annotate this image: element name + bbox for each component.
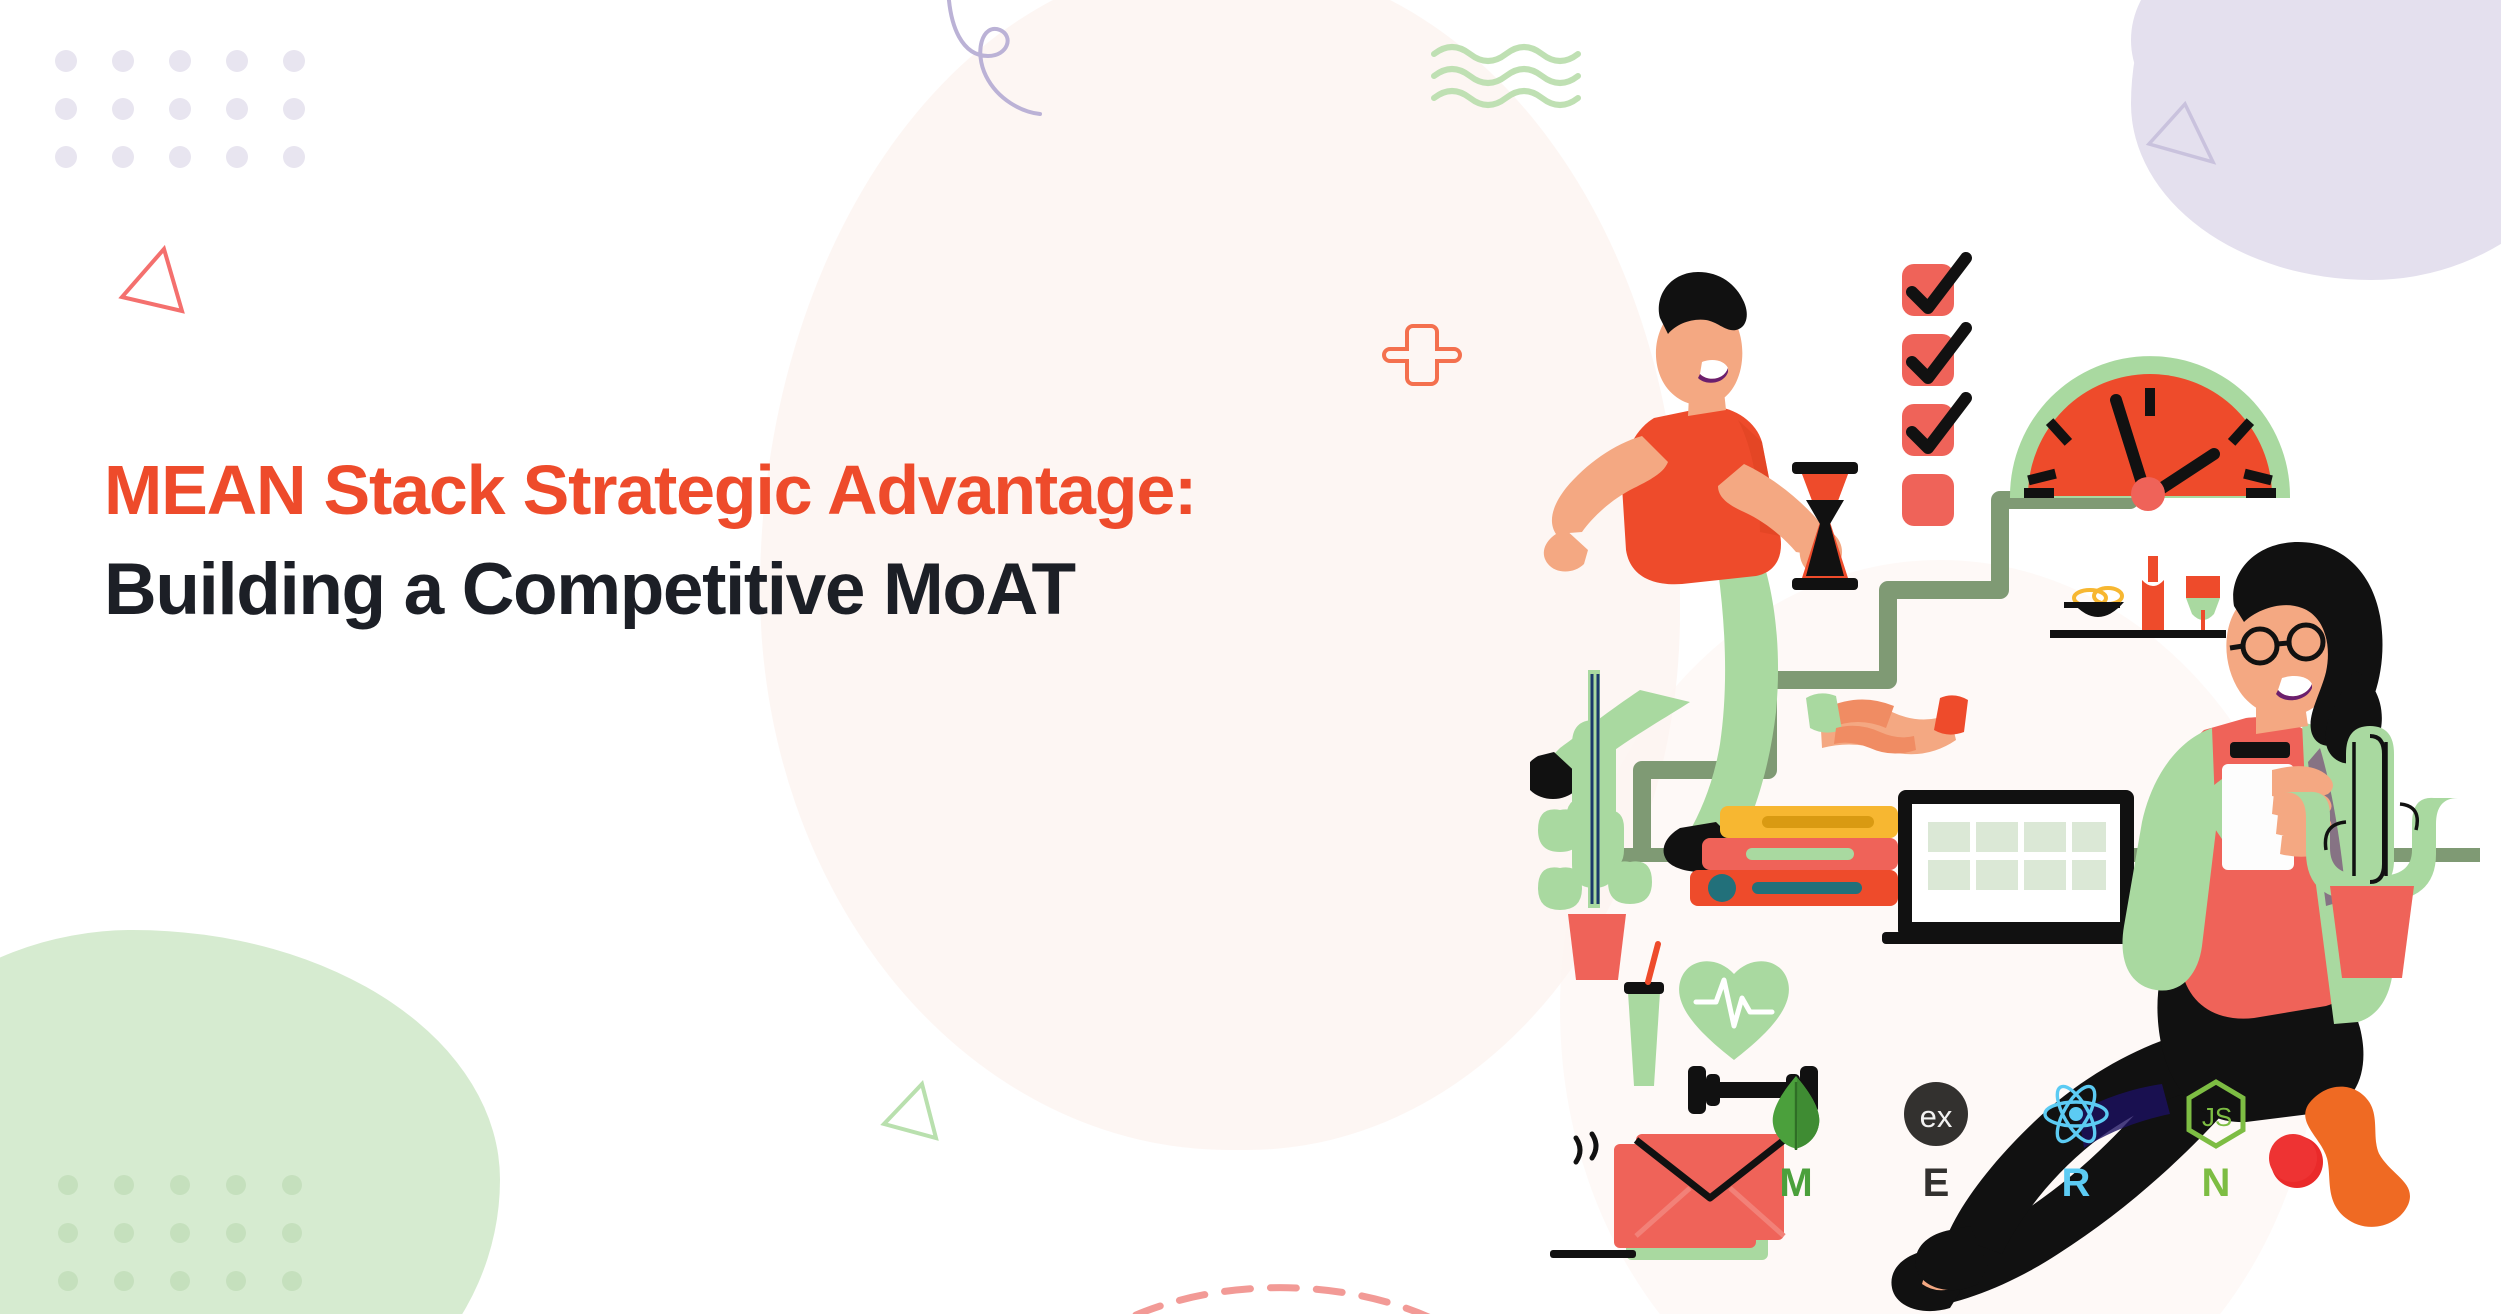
dot bbox=[58, 1223, 78, 1243]
food-shelf bbox=[2050, 556, 2226, 638]
swirl-icon bbox=[930, 0, 1070, 150]
laptop bbox=[1882, 790, 2150, 944]
speedometer-gauge bbox=[2010, 356, 2290, 511]
nodejs-hexagon-icon: JS bbox=[2181, 1075, 2251, 1149]
dot bbox=[170, 1223, 190, 1243]
nodejs-wordmark: JS bbox=[2202, 1102, 2232, 1132]
tech-stack-item-mongodb: M bbox=[1760, 1075, 1832, 1203]
dot bbox=[58, 1271, 78, 1291]
dot bbox=[283, 98, 305, 120]
checklist-item-3 bbox=[1902, 398, 1966, 456]
hero-copy: MEAN Stack Strategic Advantage: Building… bbox=[104, 455, 1554, 634]
dot bbox=[55, 98, 77, 120]
drink-cup-icon bbox=[1624, 944, 1664, 1086]
dot bbox=[112, 98, 134, 120]
dot bbox=[282, 1271, 302, 1291]
dot bbox=[282, 1175, 302, 1195]
dot bbox=[58, 1175, 78, 1195]
dot bbox=[169, 98, 191, 120]
dot bbox=[55, 50, 77, 72]
dot bbox=[226, 1223, 246, 1243]
react-atom-icon bbox=[2041, 1075, 2111, 1149]
tech-stack-item-react: R bbox=[2040, 1075, 2112, 1203]
dot bbox=[226, 146, 248, 168]
heart-rate-icon bbox=[1679, 961, 1789, 1060]
triangle-coral-icon bbox=[118, 245, 188, 315]
dot bbox=[226, 98, 248, 120]
envelope-icon bbox=[1550, 1134, 1784, 1260]
dot bbox=[114, 1223, 134, 1243]
triangle-green-icon bbox=[880, 1080, 942, 1142]
checklist-item-2 bbox=[1902, 328, 1966, 386]
dot bbox=[283, 50, 305, 72]
checklist bbox=[1902, 258, 1966, 526]
dot bbox=[169, 50, 191, 72]
banner-root: MEAN Stack Strategic Advantage: Building… bbox=[0, 0, 2501, 1314]
orange-blob-icon bbox=[2253, 1076, 2453, 1236]
page-title: Building a Competitive MoAT bbox=[104, 545, 1364, 634]
dot bbox=[112, 50, 134, 72]
wave-lines-icon bbox=[1430, 40, 1620, 110]
dot bbox=[226, 1271, 246, 1291]
dot bbox=[169, 146, 191, 168]
dashed-arc-icon bbox=[1030, 1215, 1530, 1314]
dot bbox=[283, 146, 305, 168]
triangle-purple-icon bbox=[2145, 100, 2217, 172]
tech-stack-letter-n: N bbox=[2202, 1163, 2231, 1203]
dot-grid-top-left bbox=[55, 50, 340, 194]
tech-stack-item-express: ex E bbox=[1900, 1075, 1972, 1203]
dot bbox=[114, 1175, 134, 1195]
dot bbox=[282, 1223, 302, 1243]
handshake-icon bbox=[1806, 693, 1968, 754]
tech-stack-row: M ex E R bbox=[1760, 1075, 2252, 1203]
plus-icon bbox=[1382, 318, 1462, 398]
tech-stack-item-nodejs: JS N bbox=[2180, 1075, 2252, 1203]
page-title-accent: MEAN Stack Strategic Advantage: bbox=[104, 455, 1554, 525]
book-stack bbox=[1690, 806, 1898, 906]
mongodb-leaf-icon bbox=[1761, 1075, 1831, 1149]
express-wordmark: ex bbox=[1920, 1099, 1953, 1134]
dot bbox=[170, 1271, 190, 1291]
dot bbox=[226, 50, 248, 72]
dot bbox=[112, 146, 134, 168]
tech-stack-letter-e: E bbox=[1923, 1163, 1950, 1203]
checklist-item-1 bbox=[1902, 258, 1966, 316]
checklist-item-4 bbox=[1902, 474, 1954, 526]
dot bbox=[170, 1175, 190, 1195]
tech-stack-letter-m: M bbox=[1779, 1163, 1812, 1203]
dot bbox=[55, 146, 77, 168]
dot bbox=[226, 1175, 246, 1195]
express-icon: ex bbox=[1901, 1075, 1971, 1149]
dot-grid-bottom-left bbox=[58, 1175, 338, 1314]
dot bbox=[114, 1271, 134, 1291]
tech-stack-letter-r: R bbox=[2062, 1163, 2091, 1203]
